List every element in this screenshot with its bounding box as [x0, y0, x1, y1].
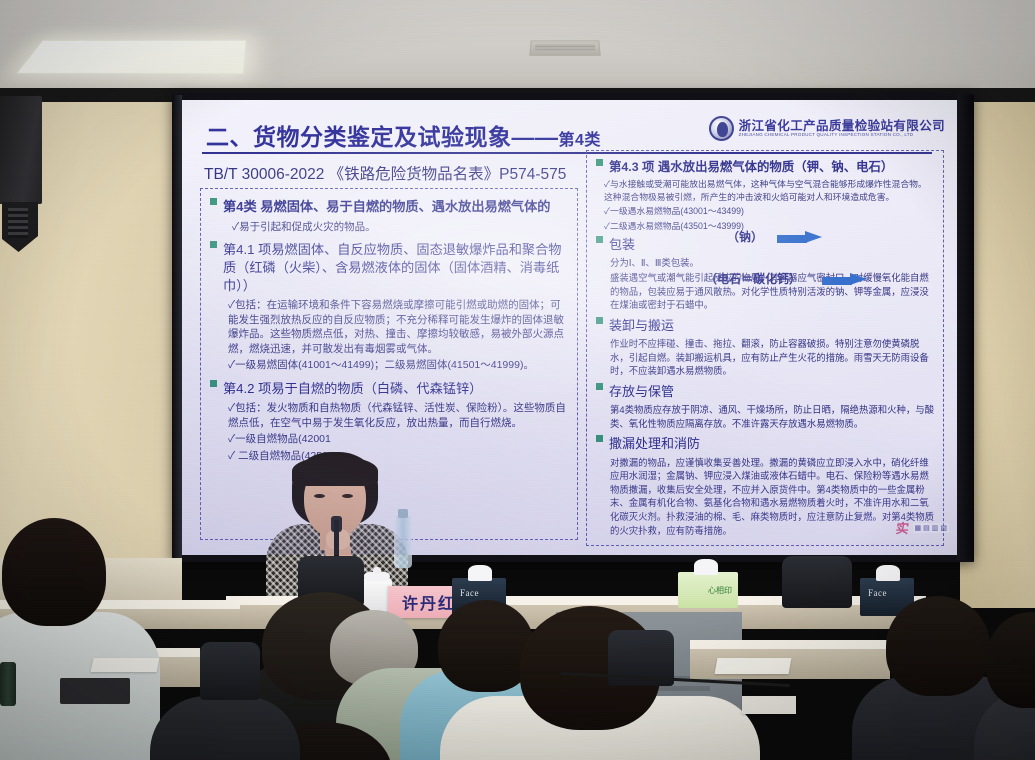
right-item1-heading: 第4.3 项 遇水放出易燃气体的物质（钾、钠、电石）	[609, 159, 893, 175]
ceiling-light-panel	[16, 40, 246, 73]
company-name-en: ZHEJIANG CHEMICAL PRODUCT QUALITY INSPEC…	[739, 133, 945, 138]
right-item1-code2: ✓二级遇水易燃物品(43501～43999)	[604, 220, 935, 232]
right-item1-code2-text: 二级遇水易燃物品(43501～43999)	[610, 221, 744, 231]
bullet-icon	[596, 317, 603, 324]
left-item2-body-text: 包括：在运输环境和条件下容易燃烧或摩擦可能引燃或助燃的固体；可能发生强烈放热反应…	[228, 299, 564, 354]
left-item2-codes-text: 一级易燃固体(41001～41499)；二级易燃固体(41501～41999)。	[235, 359, 534, 371]
arrow-right-icon	[822, 275, 868, 286]
audience-area	[0, 500, 1035, 760]
carbide-annotation: （电石＝碳化钙）	[705, 270, 801, 287]
right-item5-heading: 撒漏处理和消防	[609, 435, 700, 452]
arrow-right-icon	[777, 233, 823, 244]
bullet-icon	[596, 159, 603, 166]
wall-speaker	[0, 96, 42, 204]
audience-person-head	[2, 518, 106, 626]
audience-person-head	[886, 596, 990, 696]
left-item1-tick: ✓易于引起和促成火灾的物品。	[232, 220, 569, 234]
company-logo: 浙江省化工产品质量检验站有限公司 ZHEJIANG CHEMICAL PRODU…	[709, 116, 945, 141]
audience-chair	[200, 642, 260, 700]
left-item3-body-text: 包括：发火物质和自热物质（代森锰锌、活性炭、保险粉）。这些物质自燃点低，在空气中…	[228, 402, 566, 428]
left-item3-body: ✓包括：发火物质和自热物质（代森锰锌、活性炭、保险粉）。这些物质自燃点低，在空气…	[228, 401, 569, 430]
ceiling-air-vent	[529, 41, 601, 56]
screen-right-edge	[957, 95, 974, 560]
presenter-eye-left	[314, 494, 325, 498]
bullet-icon	[596, 236, 603, 243]
standard-reference: TB/T 30006-2022 《铁路危险货物品名表》P574-575	[204, 162, 566, 184]
slide-right-column: 第4.3 项 遇水放出易燃气体的物质（钾、钠、电石） ✓与水接触或受潮可能放出易…	[586, 150, 944, 546]
audience-water-bottle	[0, 662, 16, 706]
folded-paper	[742, 696, 796, 714]
right-item4-body: 第4类物质应存放于阴凉、通风、干燥场所，防止日晒，隔绝热源和火种，与酸类、氧化性…	[610, 403, 935, 430]
right-item3-body: 作业时不应摔碰、撞击、拖拉、翻滚，防止容器破损。特别注意勿使黄磷脱水，引起自燃。…	[610, 337, 935, 378]
left-item3-code1-text: 一级自燃物品(42001	[235, 433, 331, 445]
right-item1-code1: ✓一级遇水易燃物品(43001～43499)	[604, 205, 935, 217]
left-item3-heading: 第4.2 项易于自燃的物质（白磷、代森锰锌）	[223, 380, 482, 398]
slide-title: 二、货物分类鉴定及试验现象——第4类	[206, 118, 601, 152]
left-item2-heading: 第4.1 项易燃固体、自反应物质、固态退敏爆炸品和聚合物质（红磷（火柴）、含易燃…	[223, 241, 569, 294]
handout-paper	[91, 658, 160, 672]
slide-title-sub: 第4类	[559, 132, 601, 149]
left-item3-code1: ✓一级自燃物品(42001	[228, 432, 569, 446]
company-logo-icon	[709, 116, 734, 141]
left-item1-tick-text: 易于引起和促成火灾的物品。	[239, 221, 376, 233]
bullet-icon	[596, 435, 603, 442]
right-item2-body1: 分为Ⅰ、Ⅱ、Ⅲ类包装。	[610, 256, 935, 270]
left-item1-heading: 第4类 易燃固体、易于自燃的物质、遇水放出易燃气体的	[223, 198, 551, 216]
conference-room-photo: 二、货物分类鉴定及试验现象——第4类 浙江省化工产品质量检验站有限公司 ZHEJ…	[0, 0, 1035, 760]
presenter-fringe	[292, 456, 378, 486]
presenter-eye-right	[342, 494, 353, 498]
bullet-icon	[210, 380, 217, 387]
laptop-device	[60, 678, 130, 704]
bullet-icon	[596, 383, 603, 390]
left-item2-body: ✓包括：在运输环境和条件下容易燃烧或摩擦可能引燃或助燃的固体；可能发生强烈放热反…	[228, 298, 569, 356]
sodium-annotation: （钠）	[727, 228, 763, 245]
bullet-icon	[210, 241, 217, 248]
right-item2-heading: 包装	[609, 236, 635, 253]
right-item4-heading: 存放与保管	[609, 383, 674, 400]
handout-paper	[715, 658, 792, 674]
bullet-icon	[210, 198, 217, 205]
slide-title-main: 二、货物分类鉴定及试验现象——	[206, 124, 559, 150]
company-name-cn: 浙江省化工产品质量检验站有限公司	[739, 120, 945, 133]
right-item1-body-text: 与水接触或受潮可能放出易燃气体，这种气体与空气混合能够形成爆炸性混合物。这种混合…	[604, 179, 927, 201]
right-item1-code1-text: 一级遇水易燃物品(43001～43499)	[610, 206, 744, 216]
screen-left-edge	[172, 95, 182, 560]
right-item3-heading: 装卸与搬运	[609, 317, 674, 334]
left-item2-codes: ✓一级易燃固体(41001～41499)；二级易燃固体(41501～41999)…	[228, 358, 569, 372]
right-item1-body: ✓与水接触或受潮可能放出易燃气体，这种气体与空气混合能够形成爆炸性混合物。这种混…	[604, 178, 935, 203]
